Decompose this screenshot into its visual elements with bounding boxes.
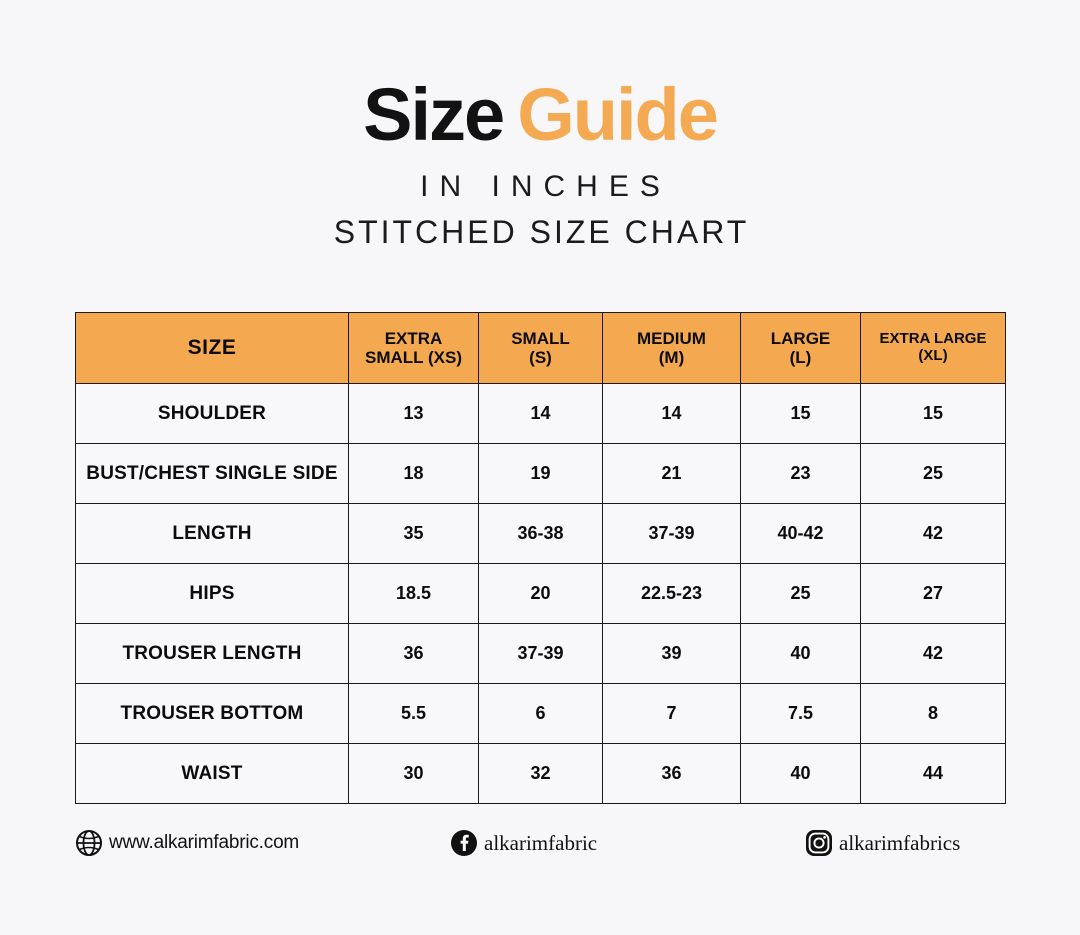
column-header-size-line1: SIZE xyxy=(188,336,237,359)
cell-length-xl: 42 xyxy=(861,504,1006,564)
table-body: SHOULDER 13 14 14 15 15 BUST/CHEST SINGL… xyxy=(76,384,1006,804)
column-header-xl-line2: (XL) xyxy=(918,347,947,364)
cell-trouser-length-xs: 36 xyxy=(349,624,479,684)
table-row: HIPS 18.5 20 22.5-23 25 27 xyxy=(76,564,1006,624)
footer: www.alkarimfabric.com alkarimfabric alka… xyxy=(75,818,1005,868)
row-label-trouser-bottom: TROUSER BOTTOM xyxy=(76,684,349,744)
row-label-length: LENGTH xyxy=(76,504,349,564)
column-header-s-line2: (S) xyxy=(529,348,552,367)
row-label-hips: HIPS xyxy=(76,564,349,624)
page-title: SizeGuide xyxy=(0,78,1080,152)
cell-shoulder-s: 14 xyxy=(479,384,603,444)
title-word-guide: Guide xyxy=(517,73,717,156)
cell-hips-xl: 27 xyxy=(861,564,1006,624)
cell-bust-l: 23 xyxy=(741,444,861,504)
facebook-icon xyxy=(450,829,478,857)
cell-hips-xs: 18.5 xyxy=(349,564,479,624)
table-row: TROUSER LENGTH 36 37-39 39 40 42 xyxy=(76,624,1006,684)
column-header-xs-line1: EXTRA xyxy=(385,329,443,348)
cell-length-s: 36-38 xyxy=(479,504,603,564)
cell-shoulder-xl: 15 xyxy=(861,384,1006,444)
facebook-label: alkarimfabric xyxy=(484,831,597,856)
website-label: www.alkarimfabric.com xyxy=(109,832,299,854)
table-row: SHOULDER 13 14 14 15 15 xyxy=(76,384,1006,444)
column-header-l-line1: LARGE xyxy=(771,329,831,348)
cell-trouser-bottom-l: 7.5 xyxy=(741,684,861,744)
table-row: WAIST 30 32 36 40 44 xyxy=(76,744,1006,804)
cell-bust-xl: 25 xyxy=(861,444,1006,504)
cell-trouser-bottom-xs: 5.5 xyxy=(349,684,479,744)
cell-waist-xl: 44 xyxy=(861,744,1006,804)
row-label-shoulder: SHOULDER xyxy=(76,384,349,444)
size-chart-table: SIZE EXTRA SMALL (XS) SMALL (S) MEDIUM (… xyxy=(75,312,1006,804)
table-row: BUST/CHEST SINGLE SIDE 18 19 21 23 25 xyxy=(76,444,1006,504)
cell-hips-l: 25 xyxy=(741,564,861,624)
footer-facebook[interactable]: alkarimfabric xyxy=(450,829,805,857)
cell-shoulder-xs: 13 xyxy=(349,384,479,444)
instagram-label: alkarimfabrics xyxy=(839,831,960,856)
footer-website[interactable]: www.alkarimfabric.com xyxy=(75,829,450,857)
globe-icon xyxy=(75,829,103,857)
column-header-m: MEDIUM (M) xyxy=(603,313,741,384)
row-label-trouser-length: TROUSER LENGTH xyxy=(76,624,349,684)
column-header-xs-line2: SMALL (XS) xyxy=(365,348,462,367)
subtitle-chart-type: STITCHED SIZE CHART xyxy=(0,216,1080,248)
cell-trouser-bottom-xl: 8 xyxy=(861,684,1006,744)
cell-trouser-length-xl: 42 xyxy=(861,624,1006,684)
cell-trouser-length-s: 37-39 xyxy=(479,624,603,684)
table-header-row: SIZE EXTRA SMALL (XS) SMALL (S) MEDIUM (… xyxy=(76,313,1006,384)
column-header-s: SMALL (S) xyxy=(479,313,603,384)
cell-length-m: 37-39 xyxy=(603,504,741,564)
size-guide-page: SizeGuide IN INCHES STITCHED SIZE CHART … xyxy=(0,0,1080,935)
column-header-l-line2: (L) xyxy=(790,348,812,367)
size-chart-container: SIZE EXTRA SMALL (XS) SMALL (S) MEDIUM (… xyxy=(75,312,1005,804)
column-header-l: LARGE (L) xyxy=(741,313,861,384)
cell-trouser-bottom-s: 6 xyxy=(479,684,603,744)
cell-bust-s: 19 xyxy=(479,444,603,504)
cell-hips-m: 22.5-23 xyxy=(603,564,741,624)
cell-waist-l: 40 xyxy=(741,744,861,804)
cell-waist-m: 36 xyxy=(603,744,741,804)
footer-instagram[interactable]: alkarimfabrics xyxy=(805,829,1005,857)
cell-waist-xs: 30 xyxy=(349,744,479,804)
row-label-bust-chest: BUST/CHEST SINGLE SIDE xyxy=(76,444,349,504)
instagram-icon xyxy=(805,829,833,857)
cell-waist-s: 32 xyxy=(479,744,603,804)
subtitle-units: IN INCHES xyxy=(0,172,1080,202)
table-header: SIZE EXTRA SMALL (XS) SMALL (S) MEDIUM (… xyxy=(76,313,1006,384)
cell-trouser-length-l: 40 xyxy=(741,624,861,684)
cell-trouser-length-m: 39 xyxy=(603,624,741,684)
cell-shoulder-l: 15 xyxy=(741,384,861,444)
column-header-s-line1: SMALL xyxy=(511,329,570,348)
cell-bust-m: 21 xyxy=(603,444,741,504)
title-block: SizeGuide IN INCHES STITCHED SIZE CHART xyxy=(0,0,1080,248)
cell-hips-s: 20 xyxy=(479,564,603,624)
table-row: LENGTH 35 36-38 37-39 40-42 42 xyxy=(76,504,1006,564)
cell-shoulder-m: 14 xyxy=(603,384,741,444)
column-header-xl: EXTRA LARGE (XL) xyxy=(861,313,1006,384)
cell-trouser-bottom-m: 7 xyxy=(603,684,741,744)
column-header-xs: EXTRA SMALL (XS) xyxy=(349,313,479,384)
column-header-xl-line1: EXTRA LARGE xyxy=(880,330,987,347)
title-word-size: Size xyxy=(363,73,503,156)
cell-length-l: 40-42 xyxy=(741,504,861,564)
column-header-size: SIZE xyxy=(76,313,349,384)
column-header-m-line1: MEDIUM xyxy=(637,329,706,348)
column-header-m-line2: (M) xyxy=(659,348,684,367)
cell-bust-xs: 18 xyxy=(349,444,479,504)
cell-length-xs: 35 xyxy=(349,504,479,564)
table-row: TROUSER BOTTOM 5.5 6 7 7.5 8 xyxy=(76,684,1006,744)
row-label-waist: WAIST xyxy=(76,744,349,804)
